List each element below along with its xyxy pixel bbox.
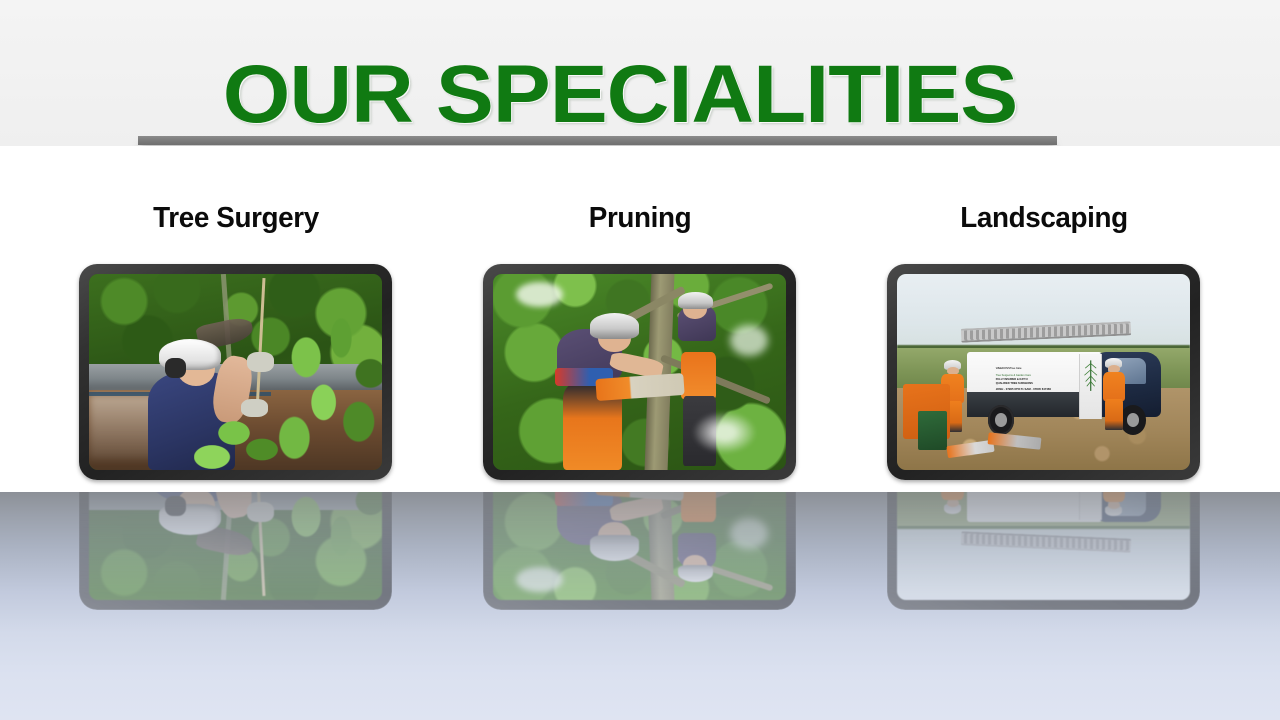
worker-right	[1102, 358, 1125, 436]
speciality-photo-pruning	[493, 274, 786, 470]
reflection-tree-surgery	[66, 492, 406, 642]
page-title: OUR SPECIALITIES	[0, 52, 1277, 138]
green-machine	[918, 411, 947, 450]
scene-landscaping: WEEDONSTree Care Tree Surgeons & Garden …	[897, 274, 1190, 470]
speciality-card-landscaping[interactable]: Landscaping	[874, 146, 1214, 492]
reflection-pruning	[470, 492, 810, 642]
truck-brand-text: WEEDONS	[996, 366, 1010, 370]
photo-frame	[483, 264, 796, 480]
title-wrap: OUR SPECIALITIES	[0, 52, 1280, 148]
speciality-photo-tree-surgery	[89, 274, 382, 470]
speciality-label: Landscaping	[881, 202, 1207, 235]
tree-logo-icon	[1079, 358, 1102, 393]
climber2-helmet-icon	[678, 292, 713, 310]
specialities-stage: Tree Surgery	[0, 146, 1280, 492]
climber1-helmet-icon	[590, 313, 640, 338]
worker-hi-vis-jacket	[1103, 372, 1126, 402]
speciality-card-pruning[interactable]: Pruning	[470, 146, 810, 492]
truck-brand-suffix: Tree Care	[1010, 366, 1022, 370]
front-leaf-cluster	[194, 403, 294, 470]
ear-defender	[165, 358, 186, 378]
truck-qualification-line: QUALIFIED TREE SURGEONS	[996, 382, 1082, 386]
truck-phone-numbers: JOSH - 07905 675171 SAM - 07845 647460	[996, 387, 1082, 392]
truck-brand-name: WEEDONSTree Care	[996, 364, 1082, 375]
speciality-label: Tree Surgery	[73, 202, 399, 235]
scene-pruning	[493, 274, 786, 470]
rear-wheel	[988, 405, 1014, 434]
worker-legs	[1105, 399, 1123, 430]
worker-glove-upper	[247, 352, 273, 372]
truck-signage: WEEDONSTree Care Tree Surgeons & Garden …	[994, 360, 1082, 395]
speciality-card-tree-surgery[interactable]: Tree Surgery	[66, 146, 406, 492]
speciality-photo-landscaping: WEEDONSTree Care Tree Surgeons & Garden …	[897, 274, 1190, 470]
photo-frame	[79, 264, 392, 480]
speciality-label: Pruning	[477, 202, 803, 235]
climber2-hi-vis-vest	[681, 352, 716, 399]
header-band: OUR SPECIALITIES	[0, 0, 1280, 146]
title-underline-bar	[138, 136, 1057, 145]
scene-tree-surgery	[89, 274, 382, 470]
reflection-landscaping	[874, 492, 1214, 642]
sawdust-spray	[692, 411, 756, 454]
photo-frame: WEEDONSTree Care Tree Surgeons & Garden …	[887, 264, 1200, 480]
